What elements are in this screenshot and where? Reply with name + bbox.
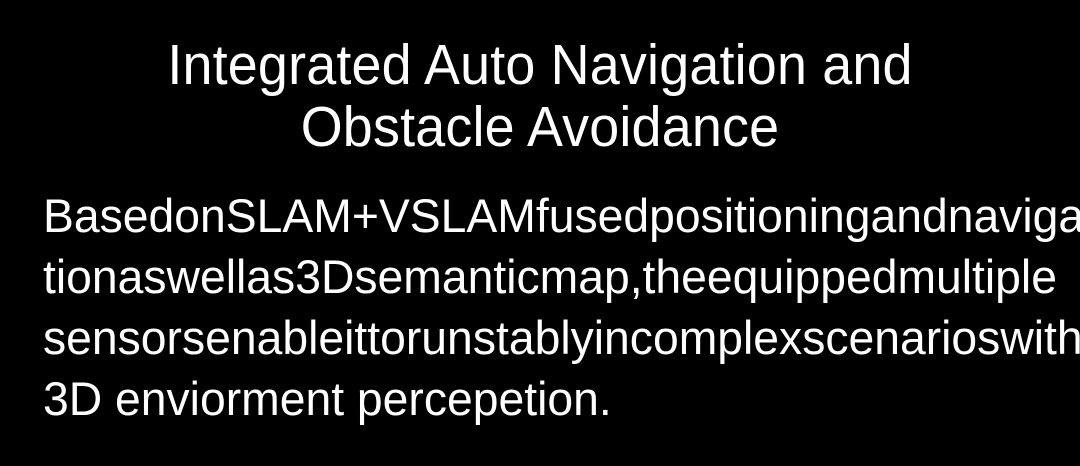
body-word: stably	[473, 314, 594, 361]
title-line-2: Obstacle Avoidance	[30, 96, 1051, 158]
body-word: semantic	[354, 253, 539, 300]
body-word: equipped	[707, 253, 898, 300]
body-word: well	[167, 253, 247, 300]
body-word: enable	[205, 314, 344, 361]
slide-body-paragraph: Based on SLAM+VSLAM fused positioning an…	[43, 178, 1037, 422]
body-line-2: tion as well as 3D semantic map,the equi…	[43, 239, 1022, 300]
body-word: Based	[43, 192, 174, 239]
body-word: with	[1000, 314, 1080, 361]
body-line-4: 3D enviorment percepetion.	[43, 361, 1022, 422]
body-word: in	[594, 314, 630, 361]
body-word: multiple	[897, 253, 1057, 300]
body-word: complex	[630, 314, 802, 361]
body-word: and	[870, 192, 947, 239]
body-word: positioning	[649, 192, 870, 239]
body-word: 3D	[295, 253, 354, 300]
body-word: fused	[536, 192, 649, 239]
body-word: as	[246, 253, 295, 300]
body-word: on	[174, 192, 225, 239]
body-word: 3D enviorment percepetion.	[43, 375, 612, 422]
body-word: naviga-	[948, 192, 1080, 239]
body-line-1: Based on SLAM+VSLAM fused positioning an…	[43, 178, 1022, 239]
body-word: SLAM+VSLAM	[226, 192, 536, 239]
body-word: map,the	[540, 253, 707, 300]
body-word: as	[118, 253, 167, 300]
body-line-3: sensors enable it to run stably in compl…	[43, 300, 1022, 361]
title-line-1: Integrated Auto Navigation and	[30, 34, 1051, 96]
body-word: to	[367, 314, 406, 361]
slide-title: Integrated Auto Navigation and Obstacle …	[0, 34, 1080, 158]
body-word: sensors	[43, 314, 205, 361]
body-word: tion	[43, 253, 118, 300]
presentation-slide: Integrated Auto Navigation and Obstacle …	[0, 0, 1080, 466]
body-word: run	[406, 314, 473, 361]
body-word: scenarios	[802, 314, 1000, 361]
body-word: it	[344, 314, 367, 361]
